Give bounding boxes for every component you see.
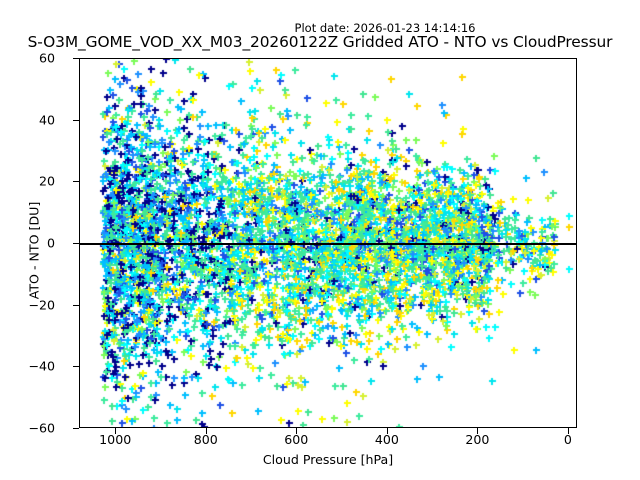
y-tick-label: 60 bbox=[0, 51, 55, 66]
y-axis-label: ATO - NTO [DU] bbox=[27, 141, 42, 361]
y-tick-label: −40 bbox=[0, 359, 55, 374]
x-tick-label: 1000 bbox=[99, 432, 131, 447]
y-tick-mark bbox=[73, 181, 79, 182]
y-tick-mark bbox=[73, 58, 79, 59]
y-tick-label: −60 bbox=[0, 421, 55, 436]
y-tick-mark bbox=[73, 120, 79, 121]
figure-canvas: Plot date: 2026-01-23 14:14:16 S-O3M_GOM… bbox=[0, 0, 640, 480]
y-tick-mark bbox=[73, 243, 79, 244]
y-tick-mark bbox=[73, 305, 79, 306]
x-tick-label: 600 bbox=[284, 432, 308, 447]
x-tick-label: 800 bbox=[194, 432, 218, 447]
page-title: S-O3M_GOME_VOD_XX_M03_20260122Z Gridded … bbox=[28, 33, 613, 51]
x-axis-label: Cloud Pressure [hPa] bbox=[79, 452, 577, 467]
x-tick-label: 0 bbox=[564, 432, 572, 447]
y-tick-mark bbox=[73, 366, 79, 367]
plot-axes-area bbox=[79, 58, 577, 428]
x-tick-label: 200 bbox=[465, 432, 489, 447]
x-tick-label: 400 bbox=[375, 432, 399, 447]
y-tick-label: 40 bbox=[0, 112, 55, 127]
y-tick-mark bbox=[73, 428, 79, 429]
zero-reference-line bbox=[80, 243, 576, 244]
